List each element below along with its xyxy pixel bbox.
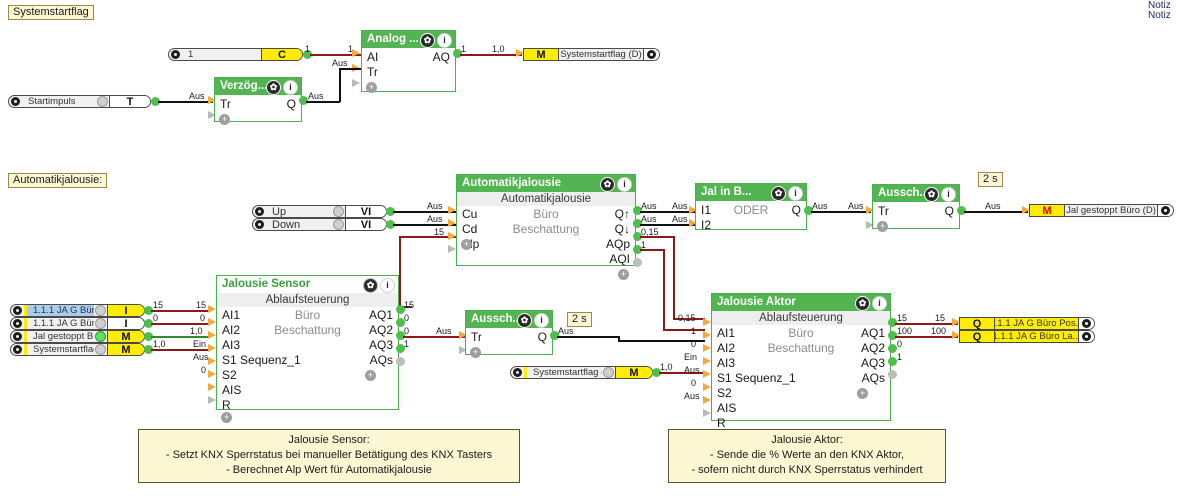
input-pin[interactable] (208, 370, 216, 378)
terminal-label: Startimpuls (22, 96, 96, 107)
input-pin[interactable] (703, 344, 711, 352)
terminal-label: 1.1.1 JA G Büro... (27, 318, 94, 329)
status-led (94, 305, 107, 316)
terminal-in-row4[interactable]: Systemstartflag (... M (10, 343, 145, 356)
status-led (94, 344, 107, 355)
terminal-in-row5[interactable]: Systemstartflag (... M (510, 366, 653, 379)
wire-value: Aus (684, 391, 700, 401)
wire (811, 211, 871, 213)
gear-icon[interactable] (11, 318, 24, 329)
wire-value: 15 (404, 300, 414, 310)
wire-value: 1,0 (153, 339, 166, 349)
wire-value: Ein (684, 352, 697, 362)
wire (964, 211, 1028, 213)
diagram-canvas[interactable]: Systemstartflag Automatikjalousie: Notiz… (0, 0, 1177, 501)
plus-icon[interactable]: + (365, 370, 376, 381)
gear-icon[interactable]: ✿ (855, 296, 870, 311)
wire-value: 0 (691, 339, 696, 349)
input-pin[interactable] (703, 318, 711, 326)
output-pin-unused[interactable] (633, 258, 642, 267)
terminal-type: VI (345, 206, 386, 217)
block-ausschaltverzoegerung-top[interactable]: Aussch... ✿ i Tr Q + (872, 184, 960, 229)
wire-value: Aus (641, 201, 657, 211)
wire (673, 236, 675, 319)
block-automatikjalousie[interactable]: Automatikjalousie ✿ i Automatikjalousie … (456, 174, 636, 266)
input-pin-unused[interactable] (208, 396, 216, 404)
terminal-out-systemstartflag[interactable]: M Systemstartflag (D) (523, 48, 660, 61)
wire (663, 329, 705, 331)
plus-icon[interactable]: + (366, 82, 377, 93)
gear-icon[interactable] (1157, 205, 1173, 216)
input-pin-unused[interactable] (352, 79, 360, 87)
wire-value: Aus (641, 214, 657, 224)
tag-systemstartflag[interactable]: Systemstartflag (8, 5, 94, 20)
wire-value: Aus (436, 326, 452, 336)
wire-value: 0 (200, 313, 205, 323)
notiz-label-2: Notiz (1148, 10, 1171, 21)
gear-icon[interactable] (1078, 318, 1094, 329)
wire-value: Aus (427, 201, 443, 211)
pin-label: AQp (606, 237, 630, 252)
block-subtitle: Ablaufsteuerung (217, 293, 398, 307)
wire (151, 336, 208, 338)
gear-icon[interactable] (643, 49, 659, 60)
gear-icon[interactable] (169, 49, 182, 60)
output-pin-dot[interactable] (888, 344, 897, 353)
wire-value: 1,0 (190, 326, 203, 336)
wire-value: 15 (935, 313, 945, 323)
wire-value: 1 (404, 339, 409, 349)
input-pin[interactable] (208, 344, 216, 352)
pin-label: AI3 (717, 356, 735, 371)
terminal-label: Up (266, 206, 332, 217)
terminal-type: I (107, 305, 144, 316)
block-title: Jalousie Aktor ✿ i (712, 294, 890, 311)
wire-value: 1 (461, 44, 466, 54)
timer-tag-top[interactable]: 2 s (978, 172, 1003, 187)
pin-label: AQ2 (369, 323, 393, 338)
note-title: Jalousie Aktor: (677, 433, 937, 448)
terminal-type: Q (960, 318, 995, 329)
terminal-type: M (107, 344, 144, 355)
block-analog[interactable]: Analog ... ✿ i AI AQ Tr + (361, 30, 456, 92)
terminal-label: Systemstartflag (... (27, 344, 94, 355)
status-led (94, 318, 107, 329)
terminal-type: I (107, 318, 144, 329)
note-line: - Berechnet Alp Wert für Automatikjalous… (147, 463, 511, 478)
gear-icon[interactable] (11, 344, 24, 355)
terminal-const-1[interactable]: 1 C (168, 48, 303, 61)
plus-icon[interactable]: + (857, 388, 868, 399)
pin-label: Q (538, 330, 547, 345)
gear-icon[interactable]: ✿ (266, 80, 281, 95)
output-pin-dot[interactable] (888, 357, 897, 366)
pin-label: AQ1 (369, 308, 393, 323)
info-icon[interactable]: i (437, 33, 452, 48)
info-icon[interactable]: i (380, 278, 395, 293)
info-icon[interactable]: i (617, 177, 632, 192)
wire (151, 310, 208, 312)
wire (403, 336, 465, 338)
wire-value: 0 (201, 365, 206, 375)
pin-label: AQ2 (861, 341, 885, 356)
terminal-type: M (524, 49, 559, 60)
terminal-type: VI (345, 219, 386, 230)
wire (640, 224, 695, 226)
wire-value: 15 (434, 227, 444, 237)
note-line: - Setzt KNX Sperrstatus bei manueller Be… (147, 448, 511, 463)
timer-tag-bottom[interactable]: 2 s (567, 312, 592, 327)
block-center-line: Büro (457, 207, 635, 222)
input-pin[interactable] (448, 232, 456, 240)
wire (339, 68, 341, 102)
input-pin[interactable] (448, 219, 456, 227)
terminal-type: M (107, 331, 144, 342)
status-led (332, 219, 345, 230)
pin-label: AQs (370, 353, 393, 368)
wire-value: Aus (985, 201, 1001, 211)
pin-label: AQ (433, 50, 450, 65)
gear-icon[interactable]: ✿ (363, 278, 378, 293)
wire-value: 100 (931, 326, 946, 336)
pin-label: Tr (367, 65, 378, 80)
block-title: Analog ... ✿ i (362, 31, 455, 48)
pin-label: I2 (701, 218, 711, 233)
gear-icon[interactable]: ✿ (517, 313, 532, 328)
terminal-label: Systemstartflag (... (527, 367, 602, 378)
output-pin-unused[interactable] (396, 357, 405, 366)
pin-label: S1 Sequenz_1 (717, 371, 796, 386)
note-jalousie-sensor[interactable]: Jalousie Sensor: - Setzt KNX Sperrstatus… (138, 429, 520, 483)
input-pin[interactable] (208, 357, 216, 365)
wire (895, 336, 958, 338)
pin-label: Q (287, 97, 296, 112)
gear-icon[interactable]: ✿ (420, 33, 435, 48)
pin-label: AQI (609, 252, 630, 267)
wire-value: 1,0 (660, 362, 673, 372)
terminal-label: 1.1.1 JA G Büro... (27, 305, 94, 316)
input-pin[interactable] (703, 331, 711, 339)
plus-icon[interactable]: + (219, 114, 230, 125)
wire-value: Aus (427, 214, 443, 224)
input-pin-unused[interactable] (448, 245, 456, 253)
terminal-out-la[interactable]: Q 1.1.1 JA G Büro La... (959, 330, 1095, 343)
status-led (96, 96, 109, 107)
terminal-up[interactable]: Up VI (252, 205, 387, 218)
wire-value: Aus (189, 91, 205, 101)
gear-icon[interactable] (253, 206, 266, 217)
pin-label: S2 (222, 368, 237, 383)
input-pin[interactable] (208, 318, 216, 326)
terminal-label: Jal gestoppt Büro (D) (1065, 205, 1157, 216)
block-subtitle: Ablaufsteuerung (712, 311, 890, 325)
input-pin[interactable] (208, 305, 216, 313)
wire-value: Ein (193, 339, 206, 349)
wire-value: 100 (897, 326, 912, 336)
terminal-in-row2[interactable]: 1.1.1 JA G Büro... I (10, 317, 145, 330)
info-icon[interactable]: i (788, 186, 803, 201)
wire (663, 249, 665, 330)
wire-value: Aus (672, 201, 688, 211)
gear-icon[interactable] (1078, 331, 1094, 342)
wire (339, 68, 361, 70)
wire-value: 0 (897, 339, 902, 349)
terminal-type: C (261, 49, 302, 60)
wire-value: Aus (558, 326, 574, 336)
gear-icon[interactable] (9, 96, 22, 107)
block-verzoegerung[interactable]: Verzög... ✿ i Tr Q + (214, 77, 302, 122)
wire (306, 101, 340, 103)
info-icon[interactable]: i (941, 187, 956, 202)
terminal-in-row1[interactable]: 1.1.1 JA G Büro... I (10, 304, 145, 317)
pin-label: AIS (717, 401, 736, 416)
input-pin[interactable] (352, 49, 360, 57)
wire-value: 0 (404, 326, 409, 336)
note-line: - Sende die % Werte an den KNX Aktor, (677, 448, 937, 463)
wire-value: 1 (305, 44, 310, 54)
block-title: Automatikjalousie ✿ i (457, 175, 635, 192)
input-pin[interactable] (208, 331, 216, 339)
status-led (332, 206, 345, 217)
block-title: Jal in B... ✿ i (696, 184, 806, 201)
pin-label: AI (367, 50, 378, 65)
plus-icon[interactable]: + (470, 347, 481, 358)
terminal-down[interactable]: Down VI (252, 218, 387, 231)
wire-value: Aus (672, 214, 688, 224)
wire-value: Aus (193, 352, 209, 362)
info-icon[interactable]: i (872, 296, 887, 311)
terminal-type: Q (960, 331, 995, 342)
pin-label: AQ3 (369, 338, 393, 353)
wire (557, 336, 619, 338)
wire (393, 224, 456, 226)
block-title: Aussch... ✿ i (466, 311, 552, 328)
pin-label: Q↓ (615, 222, 630, 237)
terminal-type: M (1030, 205, 1065, 216)
status-led (94, 331, 107, 342)
terminal-out-pos[interactable]: Q 1.1.1 JA G Büro Pos... (959, 317, 1095, 330)
terminal-label: Systemstartflag (D) (559, 49, 643, 60)
wire-value: 1 (691, 326, 696, 336)
input-pin[interactable] (703, 396, 711, 404)
wire (399, 236, 401, 308)
input-pin[interactable] (703, 357, 711, 365)
wire-value: 1,0 (492, 44, 505, 54)
input-pin[interactable] (703, 383, 711, 391)
terminal-out-jal-gestoppt[interactable]: M Jal gestoppt Büro (D) (1029, 204, 1174, 217)
plus-icon[interactable]: + (221, 412, 232, 423)
pin-label: S1 Sequenz_1 (222, 353, 301, 368)
gear-icon[interactable] (11, 331, 24, 342)
pin-label: Q↑ (615, 207, 630, 222)
pin-label: R (222, 398, 231, 413)
wire-value: 15 (196, 300, 206, 310)
wire (151, 323, 208, 325)
block-subtitle: Automatikjalousie (457, 192, 635, 206)
wire-value: 0 (691, 378, 696, 388)
pin-label: AI3 (222, 338, 240, 353)
block-ausschaltverzoegerung-bottom[interactable]: Aussch... ✿ i Tr Q + (465, 310, 553, 355)
output-pin-unused[interactable] (888, 370, 897, 379)
block-title: Aussch... ✿ i (873, 185, 959, 202)
pin-label: Q (945, 204, 954, 219)
pin-label: AQ1 (861, 326, 885, 341)
terminal-label: 1.1.1 JA G Büro Pos... (995, 318, 1078, 329)
pin-label: AIS (222, 383, 241, 398)
wire (460, 54, 522, 56)
plus-icon[interactable]: + (618, 269, 629, 280)
note-jalousie-aktor[interactable]: Jalousie Aktor: - Sende die % Werte an d… (668, 429, 946, 483)
info-icon[interactable]: i (534, 313, 549, 328)
pin-label: AQs (862, 371, 885, 386)
wire-value: Aus (812, 201, 828, 211)
terminal-type: T (109, 96, 150, 107)
wire (158, 101, 213, 103)
wire-value: 0,15 (678, 313, 696, 323)
wire-value: Aus (684, 365, 700, 375)
wire (640, 249, 664, 251)
block-jalousie-aktor[interactable]: Jalousie Aktor ✿ i Ablaufsteuerung AI1 B… (711, 293, 891, 421)
terminal-type: M (615, 367, 652, 378)
pin-label: Tr (220, 97, 231, 112)
terminal-label: 1.1.1 JA G Büro La... (995, 331, 1078, 342)
terminal-in-row3[interactable]: Jal gestoppt Bür... M (10, 330, 145, 343)
note-line: - sofern nicht durch KNX Sperrstatus ver… (677, 463, 937, 478)
pin-label: Tr (878, 204, 889, 219)
wire (640, 211, 695, 213)
input-pin-unused[interactable] (703, 409, 711, 417)
wire (151, 349, 208, 351)
pin-label: Tr (471, 330, 482, 345)
terminal-label: Down (266, 219, 332, 230)
plus-icon[interactable]: + (877, 221, 888, 232)
gear-icon[interactable]: ✿ (924, 187, 939, 202)
block-jalousie-sensor[interactable]: Jalousie Sensor ✿ i Ablaufsteuerung AI1 … (216, 275, 399, 410)
terminal-startimpuls[interactable]: Startimpuls T (8, 95, 151, 108)
gear-icon[interactable]: ✿ (771, 186, 786, 201)
wire-value: Aus (848, 201, 864, 211)
wire-value: 1 (897, 352, 902, 362)
tag-automatikjalousie[interactable]: Automatikjalousie: (8, 173, 107, 188)
wire-value: 15 (897, 313, 907, 323)
wire-value: Aus (308, 91, 324, 101)
block-jal-in-b[interactable]: Jal in B... ✿ i I1 ODER Q I2 (695, 183, 807, 230)
pin-label: Q (792, 203, 801, 218)
plus-icon[interactable]: + (461, 239, 472, 250)
block-center-line: Beschattung (457, 222, 635, 237)
info-icon[interactable]: i (283, 80, 298, 95)
wire-value: 0 (153, 313, 158, 323)
note-title: Jalousie Sensor: (147, 433, 511, 448)
gear-icon[interactable]: ✿ (600, 177, 615, 192)
gear-icon[interactable] (253, 219, 266, 230)
terminal-label: Jal gestoppt Bür... (27, 331, 94, 342)
block-center-line: ODER (696, 203, 806, 218)
input-pin[interactable] (703, 370, 711, 378)
pin-label: AQ3 (861, 356, 885, 371)
wire-value: 0 (404, 313, 409, 323)
wire (393, 211, 456, 213)
input-pin[interactable] (208, 383, 216, 391)
input-pin[interactable] (448, 206, 456, 214)
terminal-label: 1 (182, 49, 261, 60)
wire-value: 15 (153, 300, 163, 310)
block-title: Jalousie Sensor ✿ i (217, 276, 398, 293)
status-led (602, 367, 615, 378)
wire (895, 323, 958, 325)
gear-icon[interactable] (11, 305, 24, 316)
pin-label: S2 (717, 386, 732, 401)
gear-icon[interactable] (511, 367, 524, 378)
wire-value: Aus (332, 58, 348, 68)
block-title: Verzög... ✿ i (215, 78, 301, 95)
wire (640, 236, 674, 238)
